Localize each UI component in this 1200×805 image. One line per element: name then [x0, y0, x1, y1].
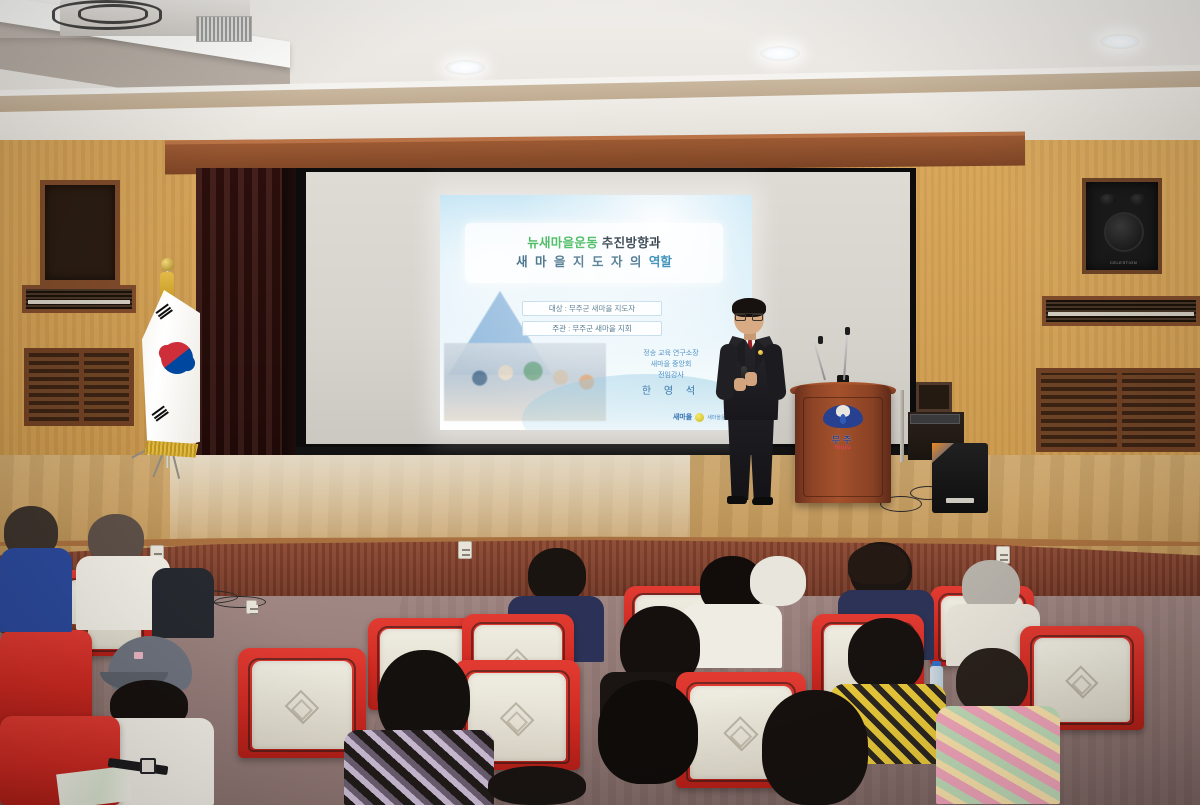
cap-logo-icon [134, 652, 143, 659]
emblem-drop-icon [840, 414, 846, 424]
speaking-podium: 무주 muju [795, 385, 891, 503]
stage-curtain [196, 168, 292, 468]
slide-title-line2-emphasis: 역할 [649, 255, 672, 269]
seat-edge-trim [248, 658, 356, 753]
credit-line-1: 정송 교육 연구소장 [643, 350, 698, 357]
audience-member-head [956, 648, 1028, 714]
av-deck [910, 414, 960, 424]
audience-member-dark-trousers [152, 568, 214, 638]
podium-roman-label: muju [835, 445, 851, 451]
audience-member-blue-shirt [0, 548, 72, 632]
audience-member-pink-floral-blouse [936, 706, 1060, 804]
speaker-woofer-icon [1104, 212, 1144, 252]
slide-title-highlight: 뉴새마을운동 [527, 236, 598, 250]
eyeglass-lens [735, 314, 746, 321]
slide-info-box-target: 대상 : 무주군 새마을 지도자 [522, 301, 662, 316]
ceiling-cable [78, 4, 148, 24]
slide-title-rest: 추진방향과 [598, 236, 661, 250]
audience-member-head [528, 548, 586, 602]
saemaul-logo-text: 새마을 [673, 412, 692, 422]
presenter-shoe [752, 497, 773, 505]
microphone-head-icon [818, 336, 823, 344]
credit-presenter-name: 한 영 석 [616, 384, 726, 400]
flag-finial-icon [161, 258, 174, 271]
wall-outlet-icon [458, 541, 472, 559]
slide-presenter-credit: 정송 교육 연구소장 새마을 중앙회 전임강사 한 영 석 [616, 349, 726, 399]
audience-member-white-blouse [750, 556, 806, 606]
floor-cable [214, 596, 266, 608]
credit-line-3: 전임강사 [658, 372, 684, 379]
audience-member-floral-blouse [344, 730, 494, 805]
ceiling [0, 0, 1200, 150]
slide-title-line-1: 뉴새마을운동 추진방향과 [527, 234, 661, 253]
eyeglasses-icon [735, 313, 763, 320]
auditorium-seat[interactable] [0, 630, 92, 730]
speaker-tweeter-icon [1130, 194, 1146, 205]
louver-divider [1117, 373, 1122, 447]
eyeglass-lens [752, 314, 763, 321]
av-monitor [916, 382, 952, 412]
slide-title-plate: 뉴새마을운동 추진방향과 새 마 을 지 도 자 의 역할 [465, 223, 723, 283]
projected-slide: 뉴새마을운동 추진방향과 새 마 을 지 도 자 의 역할 대상 : 무주군 새… [440, 195, 752, 430]
slide-title-line2-main: 새 마 을 지 도 자 의 [516, 255, 649, 269]
slat-vent-highlight [28, 300, 130, 304]
presenter-with-microphone [712, 300, 788, 515]
wall-speaker: CELESTION [1082, 178, 1162, 274]
speaker-tweeter-icon [1100, 194, 1116, 205]
projector-vent-icon [196, 16, 252, 42]
speaker-brand-label: CELESTION [1110, 260, 1137, 265]
audience-member-head [488, 766, 586, 805]
bag-buckle-icon [140, 758, 156, 774]
louver-divider [79, 353, 84, 421]
louvered-vent [1036, 368, 1200, 452]
audience-member-hair [848, 544, 908, 584]
slat-vent [1042, 296, 1200, 326]
muju-county-emblem [823, 405, 863, 430]
recessed-downlight [445, 60, 485, 75]
wall-outlet-icon [246, 600, 257, 614]
audience-member-head [848, 618, 924, 692]
louvered-vent [24, 348, 134, 426]
recessed-downlight [760, 46, 800, 61]
credit-line-2: 새마을 중앙회 [651, 361, 692, 368]
slat-vent [22, 285, 136, 313]
presenter-shoe [727, 496, 747, 504]
saemaul-logo-icon [695, 413, 704, 422]
auditorium-scene: CELESTION 소화기 뉴새마을운동 추진방향과 새 마 을 지 도 자 의… [0, 0, 1200, 805]
slat-vent-highlight [1048, 312, 1194, 316]
slide-title-line-2: 새 마 을 지 도 자 의 역할 [516, 253, 672, 272]
microphone-head-icon [845, 327, 850, 335]
presenter-lapel-pin-icon [758, 350, 763, 355]
av-stand-pole [900, 390, 904, 462]
slide-info-box-host: 주관 : 무주군 새마을 지회 [522, 321, 662, 336]
audience-member-head [598, 680, 698, 784]
dark-acoustic-panel [40, 180, 120, 285]
recessed-downlight [1100, 34, 1140, 49]
presenter-legs [728, 416, 774, 500]
presenter-hand [745, 372, 757, 386]
audience-member-head [762, 690, 868, 805]
speaker-label-plate [946, 498, 974, 503]
